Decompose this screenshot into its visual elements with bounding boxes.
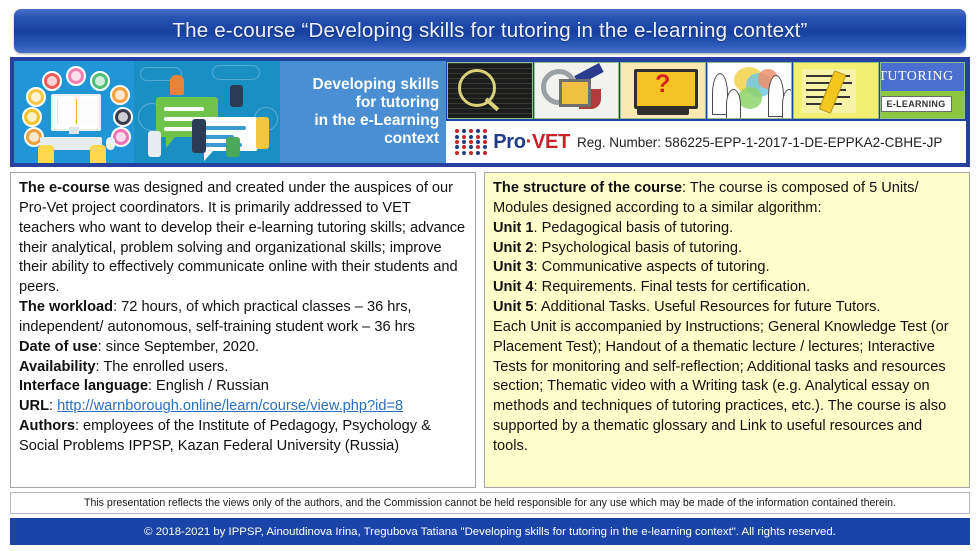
course-structure-panel: The structure of the course: The course … bbox=[484, 172, 970, 488]
person-outline bbox=[782, 89, 792, 119]
unit-text: : Requirements. Final tests for certific… bbox=[534, 279, 811, 295]
banner-caption-line-3: in the e-Learning bbox=[314, 112, 439, 130]
icon-bubble-red bbox=[42, 71, 62, 91]
date-paragraph: Date of use: since September, 2020. bbox=[19, 338, 467, 358]
unit-label: Unit 2 bbox=[493, 240, 534, 256]
url-separator: : bbox=[49, 398, 57, 414]
slide-root: The e-course “Developing skills for tuto… bbox=[0, 0, 980, 551]
icon-bubble-pink bbox=[66, 66, 86, 86]
badge-tutoring-label: TUTORING bbox=[880, 63, 964, 91]
page-title: The e-course “Developing skills for tuto… bbox=[172, 19, 807, 43]
unit-label: Unit 5 bbox=[493, 299, 534, 315]
elearning-computer-illustration bbox=[14, 61, 134, 163]
icon-bubble-orange bbox=[110, 85, 130, 105]
person-figure bbox=[170, 75, 184, 95]
course-description-panel: The e-course was designed and created un… bbox=[10, 172, 476, 488]
unit-text: : Communicative aspects of tutoring. bbox=[534, 259, 770, 275]
book-spine bbox=[76, 99, 77, 124]
unit-item: Unit 5: Additional Tasks. Useful Resourc… bbox=[493, 298, 961, 318]
unit-item: Unit 4: Requirements. Final tests for ce… bbox=[493, 278, 961, 298]
monitor-question-thumbnail: ? bbox=[620, 62, 705, 119]
provet-name-part2: VET bbox=[532, 131, 570, 153]
header-banner: Developing skills for tutoring in the e-… bbox=[10, 57, 970, 167]
copyright-bar: © 2018-2021 by IPPSP, Ainoutdinova Irina… bbox=[10, 518, 970, 545]
person-figure bbox=[192, 119, 206, 153]
banner-caption-line-2: for tutoring bbox=[356, 94, 440, 112]
chat-people-illustration bbox=[134, 61, 280, 163]
unit-item: Unit 1. Pedagogical basis of tutoring. bbox=[493, 219, 961, 239]
keyboard-icon bbox=[637, 106, 689, 115]
color-blob bbox=[738, 87, 762, 109]
group-discussion-thumbnail bbox=[707, 62, 792, 119]
authors-paragraph: Authors: employees of the Institute of P… bbox=[19, 417, 467, 457]
screen-icon bbox=[559, 79, 591, 107]
unit-details-paragraph: Each Unit is accompanied by Instructions… bbox=[493, 318, 961, 457]
url-label: URL bbox=[19, 398, 49, 414]
structure-label: The structure of the course bbox=[493, 180, 682, 196]
unit-item: Unit 3: Communicative aspects of tutorin… bbox=[493, 258, 961, 278]
unit-text: . Pedagogical basis of tutoring. bbox=[534, 220, 734, 236]
notepad-pencil-thumbnail bbox=[793, 62, 878, 119]
unit-label: Unit 3 bbox=[493, 259, 534, 275]
unit-text: : Additional Tasks. Useful Resources for… bbox=[534, 299, 881, 315]
disclaimer-bar: This presentation reflects the views onl… bbox=[10, 492, 970, 514]
registration-number: Reg. Number: 586225-EPP-1-2017-1-DE-EPPK… bbox=[577, 135, 942, 150]
mouse-icon bbox=[106, 137, 115, 150]
authors-label: Authors bbox=[19, 418, 75, 434]
monitor-icon bbox=[51, 94, 101, 131]
date-text: : since September, 2020. bbox=[98, 339, 259, 355]
university-building-thumbnail: TUTORING E-LEARNING bbox=[880, 62, 965, 119]
banner-caption-line-4: context bbox=[384, 130, 439, 148]
availability-paragraph: Availability: The enrolled users. bbox=[19, 358, 467, 378]
language-label: Interface language bbox=[19, 378, 148, 394]
workload-label: The workload bbox=[19, 299, 113, 315]
course-url-link[interactable]: http://warnborough.online/learn/course/v… bbox=[57, 398, 403, 414]
availability-label: Availability bbox=[19, 359, 96, 375]
disclaimer-text: This presentation reflects the views onl… bbox=[84, 497, 896, 509]
provet-dot-matrix-icon bbox=[454, 129, 488, 155]
language-text: : English / Russian bbox=[148, 378, 269, 394]
unit-item: Unit 2: Psychological basis of tutoring. bbox=[493, 239, 961, 259]
banner-caption: Developing skills for tutoring in the e-… bbox=[280, 61, 446, 163]
intro-text: was designed and created under the auspi… bbox=[19, 180, 465, 295]
authors-text: : employees of the Institute of Pedagogy… bbox=[19, 418, 431, 454]
person-figure bbox=[256, 117, 269, 149]
banner-caption-line-1: Developing skills bbox=[313, 76, 440, 94]
header-right-column: ? bbox=[446, 61, 966, 163]
question-mark-icon: ? bbox=[655, 72, 670, 97]
workload-paragraph: The workload: 72 hours, of which practic… bbox=[19, 298, 467, 338]
intro-label: The e-course bbox=[19, 180, 110, 196]
thumbnail-strip: ? bbox=[446, 61, 966, 119]
person-figure bbox=[148, 131, 161, 157]
unit-text: : Psychological basis of tutoring. bbox=[534, 240, 742, 256]
date-label: Date of use bbox=[19, 339, 98, 355]
unit-label: Unit 1 bbox=[493, 220, 534, 236]
badge-elearning-label: E-LEARNING bbox=[881, 96, 952, 112]
icon-bubble-dark bbox=[113, 107, 133, 127]
tutoring-elearning-badge: TUTORING E-LEARNING bbox=[880, 63, 964, 118]
provet-logo-text: Pro·VET bbox=[493, 131, 570, 154]
gears-computer-thumbnail bbox=[534, 62, 619, 119]
intro-paragraph: The e-course was designed and created un… bbox=[19, 179, 467, 298]
cloud-outline bbox=[212, 65, 260, 80]
monitor-stand bbox=[69, 127, 79, 134]
person-figure bbox=[226, 137, 240, 157]
language-paragraph: Interface language: English / Russian bbox=[19, 377, 467, 397]
url-paragraph: URL: http://warnborough.online/learn/cou… bbox=[19, 397, 467, 417]
icon-bubble-yellow bbox=[26, 87, 46, 107]
hand-right bbox=[90, 145, 106, 163]
structure-paragraph: The structure of the course: The course … bbox=[493, 179, 961, 219]
icon-bubble-search bbox=[22, 107, 42, 127]
availability-text: : The enrolled users. bbox=[96, 359, 229, 375]
provet-name-part1: Pro bbox=[493, 131, 525, 153]
magnifying-glass-code-thumbnail bbox=[447, 62, 532, 119]
content-panels: The e-course was designed and created un… bbox=[10, 172, 970, 488]
copyright-text: © 2018-2021 by IPPSP, Ainoutdinova Irina… bbox=[144, 526, 836, 538]
person-figure bbox=[230, 85, 243, 107]
header-illustration: Developing skills for tutoring in the e-… bbox=[14, 61, 446, 163]
unit-label: Unit 4 bbox=[493, 279, 534, 295]
provet-logo-bar: Pro·VET Reg. Number: 586225-EPP-1-2017-1… bbox=[446, 119, 966, 163]
icon-bubble-green bbox=[90, 71, 110, 91]
badge-elearning-plate: E-LEARNING bbox=[880, 91, 964, 119]
slide-title-banner: The e-course “Developing skills for tuto… bbox=[14, 9, 966, 53]
hand-left bbox=[38, 145, 54, 163]
person-outline bbox=[726, 89, 741, 119]
